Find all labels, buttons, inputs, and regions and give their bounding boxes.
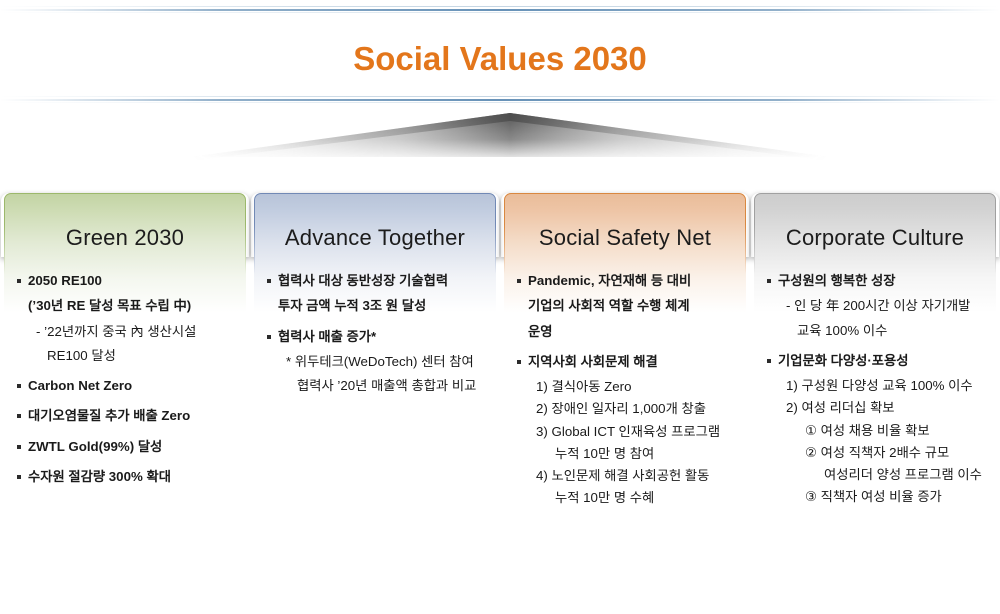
bullet-block: 구성원의 행복한 성장 - 인 당 年 200시간 이상 자기개발 교육 100…: [766, 271, 984, 340]
numbered-item: 2) 여성 리더십 확보: [766, 398, 984, 417]
circled-number-item-continuation: 여성리더 양성 프로그램 이수: [766, 465, 984, 484]
bullet-block: 기업문화 다양성·포용성 1) 구성원 다양성 교육 100% 이수 2) 여성…: [766, 351, 984, 507]
pillars-row: Green 2030 2050 RE100 (’30년 RE 달성 목표 수립 …: [0, 193, 1000, 613]
top-rule-secondary-line: [0, 12, 1000, 13]
bullet-line: 대기오염물질 추가 배출 Zero: [16, 406, 234, 425]
circled-number-item: ① 여성 채용 비율 확보: [766, 421, 984, 440]
bullet-block: 2050 RE100 (’30년 RE 달성 목표 수립 中) - ’22년까지…: [16, 271, 234, 365]
bullet-text: Pandemic, 자연재해 등 대비: [528, 273, 691, 288]
square-bullet-icon: [17, 279, 21, 283]
title-underline-rule: [0, 96, 1000, 104]
square-bullet-icon: [267, 279, 271, 283]
bullet-line: 2050 RE100: [16, 271, 234, 290]
top-rule-thick-line: [0, 9, 1000, 11]
bullet-block: 지역사회 사회문제 해결 1) 결식아동 Zero 2) 장애인 일자리 1,0…: [516, 352, 734, 508]
numbered-item-continuation: 누적 10만 명 수혜: [516, 488, 734, 507]
bullet-text: 협력사 대상 동반성장 기술협력: [278, 273, 448, 288]
mid-rule-thick-line: [0, 99, 1000, 101]
page-title: Social Values 2030: [0, 40, 1000, 78]
pillar-card-advance-together[interactable]: Advance Together 협력사 대상 동반성장 기술협력 투자 금액 …: [254, 193, 496, 613]
numbered-item: 4) 노인문제 해결 사회공헌 활동: [516, 466, 734, 485]
bullet-text: 구성원의 행복한 성장: [778, 273, 896, 288]
pillar-card-corporate-culture[interactable]: Corporate Culture 구성원의 행복한 성장 - 인 당 年 20…: [754, 193, 996, 613]
bullet-block: ZWTL Gold(99%) 달성: [16, 437, 234, 456]
bullet-text: 협력사 매출 증가*: [278, 329, 376, 344]
bullet-line: 협력사 대상 동반성장 기술협력: [266, 271, 484, 290]
square-bullet-icon: [767, 279, 771, 283]
sub-line: - ’22년까지 중국 內 생산시설: [16, 322, 234, 341]
bullet-line: 구성원의 행복한 성장: [766, 271, 984, 290]
square-bullet-icon: [17, 384, 21, 388]
numbered-item: 3) Global ICT 인재육성 프로그램: [516, 422, 734, 441]
mid-rule-secondary-line: [0, 102, 1000, 103]
bullet-line: 협력사 매출 증가*: [266, 327, 484, 346]
bullet-line: 수자원 절감량 300% 확대: [16, 467, 234, 486]
bullet-block: Pandemic, 자연재해 등 대비 기업의 사회적 역할 수행 체계 운영: [516, 271, 734, 341]
bullet-text: 대기오염물질 추가 배출 Zero: [28, 408, 190, 423]
bullet-block: 협력사 매출 증가* * 위두테크(WeDoTech) 센터 참여 협력사 ’2…: [266, 327, 484, 396]
card-body-corporate-culture: 구성원의 행복한 성장 - 인 당 年 200시간 이상 자기개발 교육 100…: [764, 271, 986, 507]
numbered-item: 1) 결식아동 Zero: [516, 377, 734, 396]
bullet-text: ZWTL Gold(99%) 달성: [28, 439, 162, 454]
bullet-line: 기업문화 다양성·포용성: [766, 351, 984, 370]
numbered-item: 1) 구성원 다양성 교육 100% 이수: [766, 376, 984, 395]
square-bullet-icon: [517, 279, 521, 283]
card-body-social-safety-net: Pandemic, 자연재해 등 대비 기업의 사회적 역할 수행 체계 운영 …: [514, 271, 736, 508]
bullet-block: 수자원 절감량 300% 확대: [16, 467, 234, 486]
card-title-social-safety-net: Social Safety Net: [514, 193, 736, 271]
sub-line-continuation: RE100 달성: [16, 346, 234, 365]
bullet-text: 지역사회 사회문제 해결: [528, 354, 658, 369]
bullet-line: 지역사회 사회문제 해결: [516, 352, 734, 371]
footnote-continuation: 협력사 ’20년 매출액 총합과 비교: [266, 376, 484, 395]
square-bullet-icon: [17, 475, 21, 479]
bullet-line: ZWTL Gold(99%) 달성: [16, 437, 234, 456]
square-bullet-icon: [517, 360, 521, 364]
top-divider-rule: [0, 6, 1000, 14]
card-body-advance-together: 협력사 대상 동반성장 기술협력 투자 금액 누적 3조 원 달성 협력사 매출…: [264, 271, 486, 395]
bullet-continuation: 운영: [516, 322, 734, 341]
bullet-text: Carbon Net Zero: [28, 378, 132, 393]
bullet-block: 대기오염물질 추가 배출 Zero: [16, 406, 234, 425]
numbered-item: 2) 장애인 일자리 1,000개 창출: [516, 399, 734, 418]
card-title-corporate-culture: Corporate Culture: [764, 193, 986, 271]
card-title-green-2030: Green 2030: [14, 193, 236, 271]
square-bullet-icon: [767, 359, 771, 363]
bullet-line: Carbon Net Zero: [16, 376, 234, 395]
square-bullet-icon: [17, 414, 21, 418]
mid-rule-thin-line: [0, 96, 1000, 97]
chevron-down-wedge-icon: [190, 113, 830, 161]
sub-line-continuation: 교육 100% 이수: [766, 321, 984, 340]
numbered-item-continuation: 누적 10만 명 참여: [516, 444, 734, 463]
footnote-line: * 위두테크(WeDoTech) 센터 참여: [266, 352, 484, 371]
bullet-text: 2050 RE100: [28, 273, 102, 288]
pillar-card-social-safety-net[interactable]: Social Safety Net Pandemic, 자연재해 등 대비 기업…: [504, 193, 746, 613]
card-title-advance-together: Advance Together: [264, 193, 486, 271]
bullet-continuation: (’30년 RE 달성 목표 수립 中): [16, 296, 234, 315]
circled-number-item: ② 여성 직책자 2배수 규모: [766, 443, 984, 462]
bullet-line: Pandemic, 자연재해 등 대비: [516, 271, 734, 290]
bullet-text: 수자원 절감량 300% 확대: [28, 469, 171, 484]
bullet-block: Carbon Net Zero: [16, 376, 234, 395]
bullet-continuation: 투자 금액 누적 3조 원 달성: [266, 296, 484, 315]
square-bullet-icon: [267, 335, 271, 339]
sub-line: - 인 당 年 200시간 이상 자기개발: [766, 296, 984, 315]
bullet-block: 협력사 대상 동반성장 기술협력 투자 금액 누적 3조 원 달성: [266, 271, 484, 316]
bullet-continuation: 기업의 사회적 역할 수행 체계: [516, 296, 734, 315]
bullet-text: 기업문화 다양성·포용성: [778, 353, 908, 368]
circled-number-item: ③ 직책자 여성 비율 증가: [766, 487, 984, 506]
card-body-green-2030: 2050 RE100 (’30년 RE 달성 목표 수립 中) - ’22년까지…: [14, 271, 236, 486]
pillar-card-green-2030[interactable]: Green 2030 2050 RE100 (’30년 RE 달성 목표 수립 …: [4, 193, 246, 613]
square-bullet-icon: [17, 445, 21, 449]
top-rule-thin-line: [0, 6, 1000, 7]
